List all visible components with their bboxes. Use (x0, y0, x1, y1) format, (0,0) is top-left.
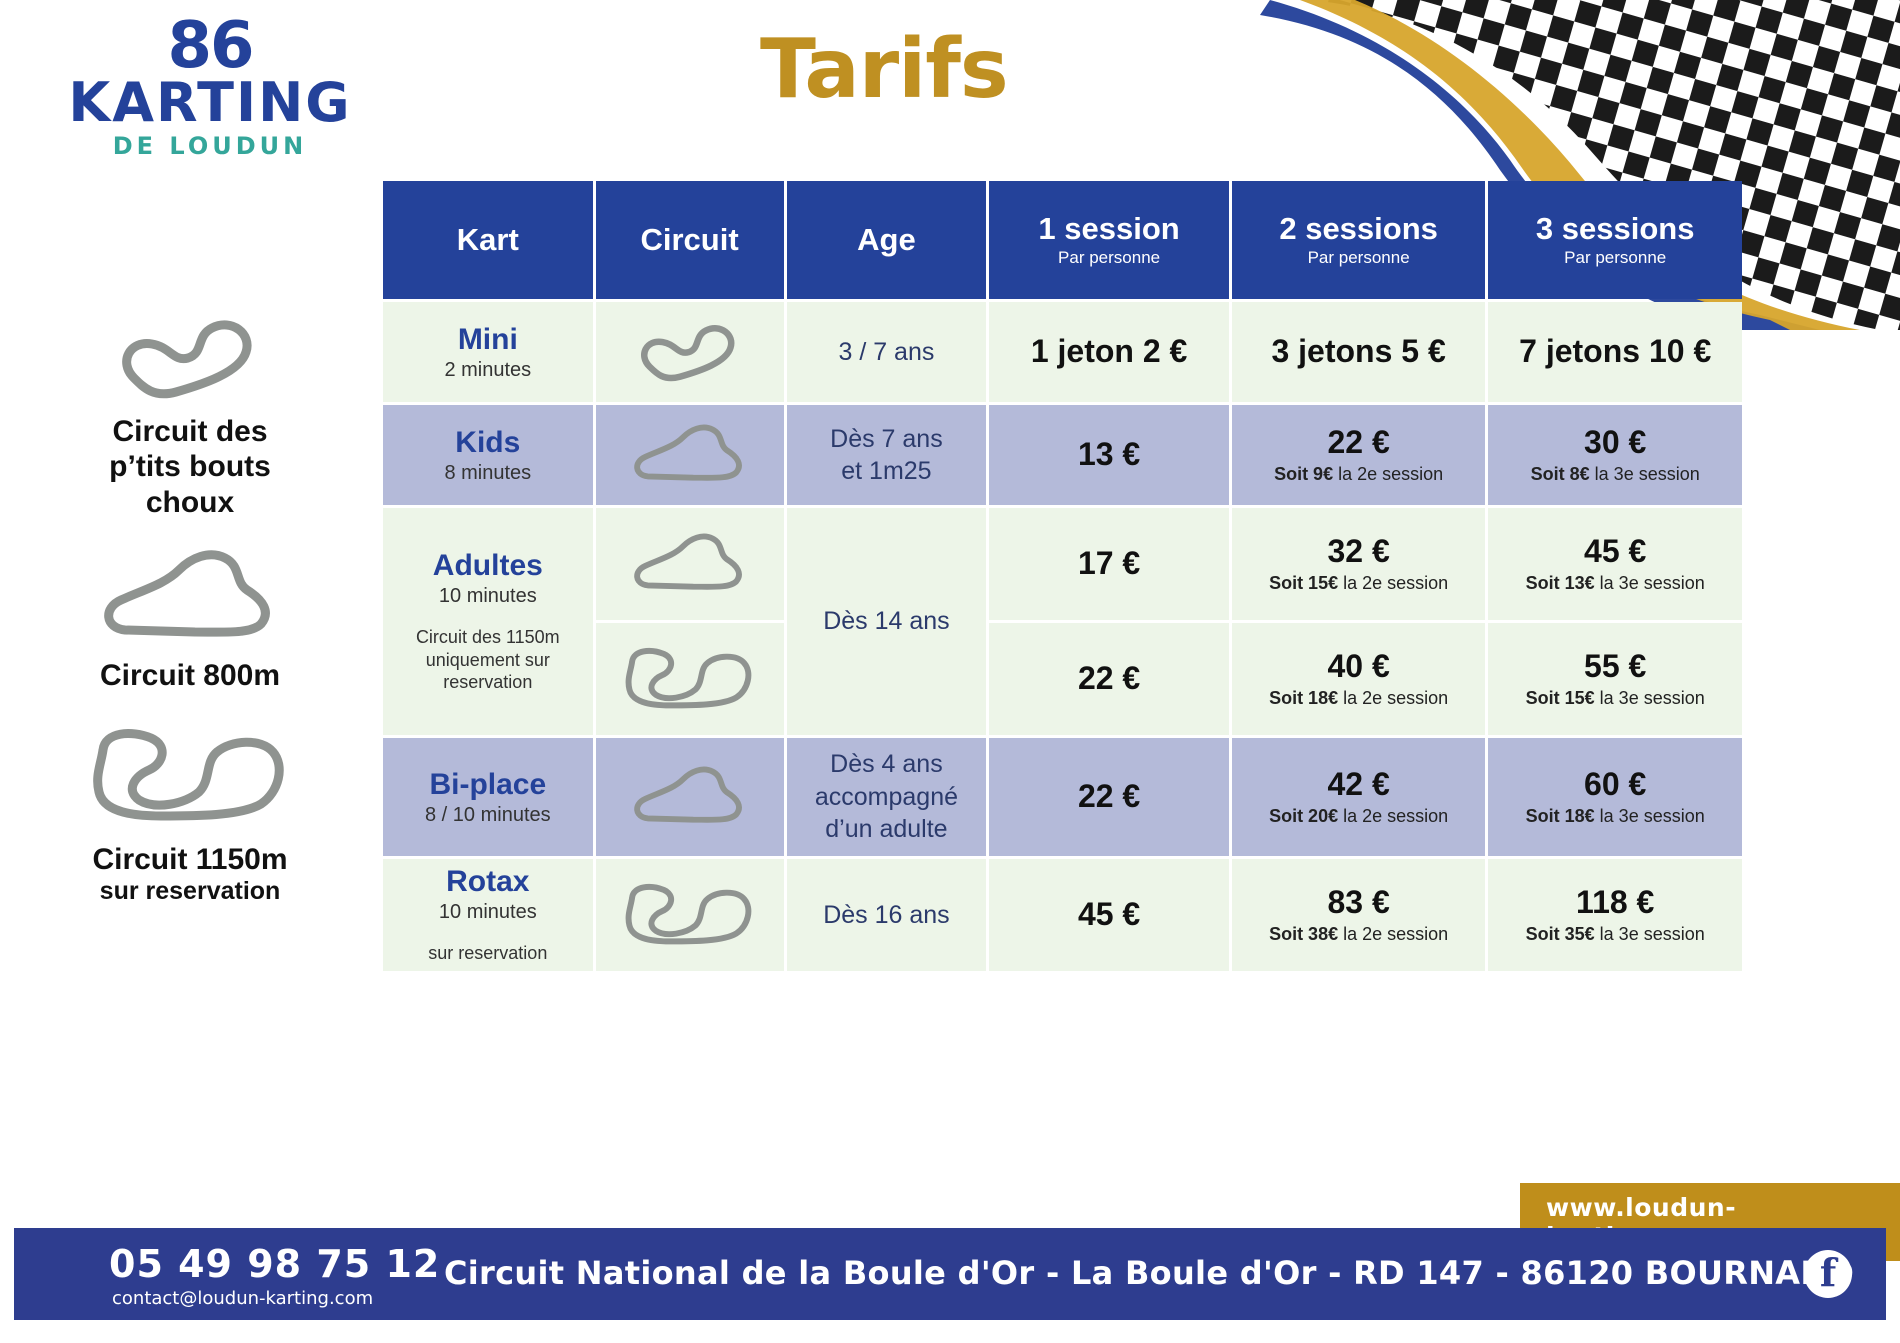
logo-subtitle: DE LOUDUN (30, 132, 390, 160)
col-header-session2-label: 2 sessions (1232, 212, 1486, 246)
col-header-circuit-label: Circuit (596, 223, 784, 257)
cell-kart: Mini2 minutes (383, 302, 593, 402)
price-note: Soit 18€ la 3e session (1488, 806, 1742, 827)
mini-circuit-shape (625, 377, 755, 394)
cell-price-s3: 60 €Soit 18€ la 3e session (1488, 738, 1742, 856)
age-text: 3 / 7 ans (787, 336, 987, 369)
col-header-circuit: Circuit (596, 181, 784, 299)
cell-price-s2: 40 €Soit 18€ la 2e session (1232, 623, 1486, 735)
circuit-800m-shape (615, 588, 765, 605)
footer-bar: 05 49 98 75 12 contact@loudun-karting.co… (14, 1228, 1886, 1320)
brand-logo: 86 KARTING DE LOUDUN (30, 18, 390, 160)
legend-label-mini: Circuit desp’tits boutschoux (10, 414, 370, 520)
kart-name: Kids (383, 426, 593, 459)
cell-age: 3 / 7 ans (787, 302, 987, 402)
col-header-session1-label: 1 session (989, 212, 1229, 246)
price-value: 55 € (1488, 649, 1742, 684)
table-body: Mini2 minutes3 / 7 ans1 jeton 2 €3 jeton… (383, 302, 1742, 971)
circuit-800m-shape (615, 479, 765, 496)
cell-price-s1: 17 € (989, 508, 1229, 620)
price-value: 40 € (1232, 649, 1486, 684)
age-text: Dès 16 ans (787, 899, 987, 932)
cell-price-s3: 118 €Soit 35€ la 3e session (1488, 859, 1742, 971)
cell-price-s3: 55 €Soit 15€ la 3e session (1488, 623, 1742, 735)
cell-age: Dès 16 ans (787, 859, 987, 971)
price-value: 45 € (1488, 534, 1742, 569)
kart-duration: 8 minutes (383, 462, 593, 485)
cell-kart: Adultes10 minutesCircuit des 1150m uniqu… (383, 508, 593, 735)
cell-age: Dès 4 ansaccompagnéd’un adulte (787, 738, 987, 856)
cell-price-s2: 22 €Soit 9€ la 2e session (1232, 405, 1486, 505)
legend-item-800m: Circuit 800m (10, 534, 370, 693)
col-header-session2-sub: Par personne (1232, 248, 1486, 268)
price-value: 13 € (989, 437, 1229, 472)
price-note: Soit 20€ la 2e session (1232, 806, 1486, 827)
cell-circuit (596, 508, 784, 620)
cell-age: Dès 14 ans (787, 508, 987, 735)
cell-price-s1: 13 € (989, 405, 1229, 505)
col-header-kart: Kart (383, 181, 593, 299)
legend-label-800m: Circuit 800m (10, 658, 370, 693)
cell-price-s3: 30 €Soit 8€ la 3e session (1488, 405, 1742, 505)
age-text: Dès 7 anset 1m25 (787, 423, 987, 488)
kart-name: Bi-place (383, 768, 593, 801)
circuit-1150m-shape (607, 943, 772, 960)
cell-price-s2: 3 jetons 5 € (1232, 302, 1486, 402)
table-row: Mini2 minutes3 / 7 ans1 jeton 2 €3 jeton… (383, 302, 1742, 402)
price-note: Soit 38€ la 2e session (1232, 924, 1486, 945)
price-value: 30 € (1488, 425, 1742, 460)
price-note: Soit 8€ la 3e session (1488, 464, 1742, 485)
col-header-session3-sub: Par personne (1488, 248, 1742, 268)
price-value: 22 € (989, 779, 1229, 814)
circuit-legend: Circuit desp’tits boutschoux Circuit 800… (10, 300, 370, 920)
cell-kart: Kids8 minutes (383, 405, 593, 505)
cell-price-s2: 32 €Soit 15€ la 2e session (1232, 508, 1486, 620)
table-row: Bi-place8 / 10 minutesDès 4 ansaccompagn… (383, 738, 1742, 856)
circuit-800m-shape (615, 821, 765, 838)
cell-price-s1: 1 jeton 2 € (989, 302, 1229, 402)
price-note: Soit 18€ la 2e session (1232, 688, 1486, 709)
age-text: Dès 4 ansaccompagnéd’un adulte (787, 748, 987, 846)
logo-number: 86 (30, 18, 390, 76)
pricing-table: Kart Circuit Age 1 session Par personne … (380, 178, 1745, 974)
price-note: Soit 9€ la 2e session (1232, 464, 1486, 485)
table-row: Kids8 minutesDès 7 anset 1m2513 €22 €Soi… (383, 405, 1742, 505)
kart-duration: 8 / 10 minutes (383, 804, 593, 827)
price-value: 83 € (1232, 885, 1486, 920)
cell-circuit (596, 859, 784, 971)
price-value: 42 € (1232, 767, 1486, 802)
cell-price-s1: 22 € (989, 623, 1229, 735)
cell-circuit (596, 405, 784, 505)
kart-name: Adultes (383, 549, 593, 582)
cell-price-s2: 83 €Soit 38€ la 2e session (1232, 859, 1486, 971)
table-row: Rotax10 minutessur reservationDès 16 ans… (383, 859, 1742, 971)
col-header-session3: 3 sessions Par personne (1488, 181, 1742, 299)
col-header-kart-label: Kart (383, 223, 593, 257)
cell-kart: Rotax10 minutessur reservation (383, 859, 593, 971)
price-value: 118 € (1488, 885, 1742, 920)
kart-name: Mini (383, 323, 593, 356)
cell-circuit (596, 623, 784, 735)
col-header-session3-label: 3 sessions (1488, 212, 1742, 246)
price-note: Soit 15€ la 3e session (1488, 688, 1742, 709)
col-header-age-label: Age (787, 223, 987, 257)
circuit-1150m-shape (607, 707, 772, 724)
mini-circuit-shape (100, 300, 280, 410)
facebook-icon[interactable]: f (1804, 1250, 1852, 1298)
legend-label-1150m: Circuit 1150m (10, 842, 370, 877)
kart-note: Circuit des 1150m uniquement sur reserva… (383, 626, 593, 694)
price-value: 45 € (989, 897, 1229, 932)
price-value: 1 jeton 2 € (989, 334, 1229, 369)
price-value: 7 jetons 10 € (1488, 334, 1742, 369)
footer-address: Circuit National de la Boule d'Or - La B… (444, 1254, 1854, 1292)
table-header-row: Kart Circuit Age 1 session Par personne … (383, 181, 1742, 299)
price-value: 17 € (989, 546, 1229, 581)
col-header-session1-sub: Par personne (989, 248, 1229, 268)
col-header-session1: 1 session Par personne (989, 181, 1229, 299)
legend-item-1150m: Circuit 1150m sur reservation (10, 708, 370, 906)
page-title: Tarifs (760, 22, 1008, 117)
circuit-1150m-shape (65, 708, 315, 838)
legend-item-mini: Circuit desp’tits boutschoux (10, 300, 370, 520)
footer-email[interactable]: contact@loudun-karting.com (112, 1288, 373, 1309)
price-value: 22 € (1232, 425, 1486, 460)
legend-sublabel-1150m: sur reservation (10, 877, 370, 906)
cell-age: Dès 7 anset 1m25 (787, 405, 987, 505)
kart-duration: 2 minutes (383, 359, 593, 382)
circuit-800m-shape (75, 534, 305, 654)
col-header-age: Age (787, 181, 987, 299)
price-value: 60 € (1488, 767, 1742, 802)
cell-circuit (596, 302, 784, 402)
cell-kart: Bi-place8 / 10 minutes (383, 738, 593, 856)
kart-name: Rotax (383, 865, 593, 898)
col-header-session2: 2 sessions Par personne (1232, 181, 1486, 299)
price-note: Soit 13€ la 3e session (1488, 573, 1742, 594)
logo-wordmark: KARTING (30, 76, 390, 130)
price-note: Soit 15€ la 2e session (1232, 573, 1486, 594)
price-value: 3 jetons 5 € (1232, 334, 1486, 369)
cell-price-s1: 45 € (989, 859, 1229, 971)
table-row: Adultes10 minutesCircuit des 1150m uniqu… (383, 508, 1742, 620)
cell-price-s3: 7 jetons 10 € (1488, 302, 1742, 402)
cell-circuit (596, 738, 784, 856)
kart-duration: 10 minutes (383, 585, 593, 608)
kart-duration: 10 minutes (383, 901, 593, 924)
cell-price-s1: 22 € (989, 738, 1229, 856)
price-note: Soit 35€ la 3e session (1488, 924, 1742, 945)
kart-note: sur reservation (383, 942, 593, 965)
footer-phone[interactable]: 05 49 98 75 12 (109, 1242, 440, 1286)
price-value: 32 € (1232, 534, 1486, 569)
cell-price-s3: 45 €Soit 13€ la 3e session (1488, 508, 1742, 620)
price-value: 22 € (989, 661, 1229, 696)
cell-price-s2: 42 €Soit 20€ la 2e session (1232, 738, 1486, 856)
age-text: Dès 14 ans (787, 605, 987, 638)
